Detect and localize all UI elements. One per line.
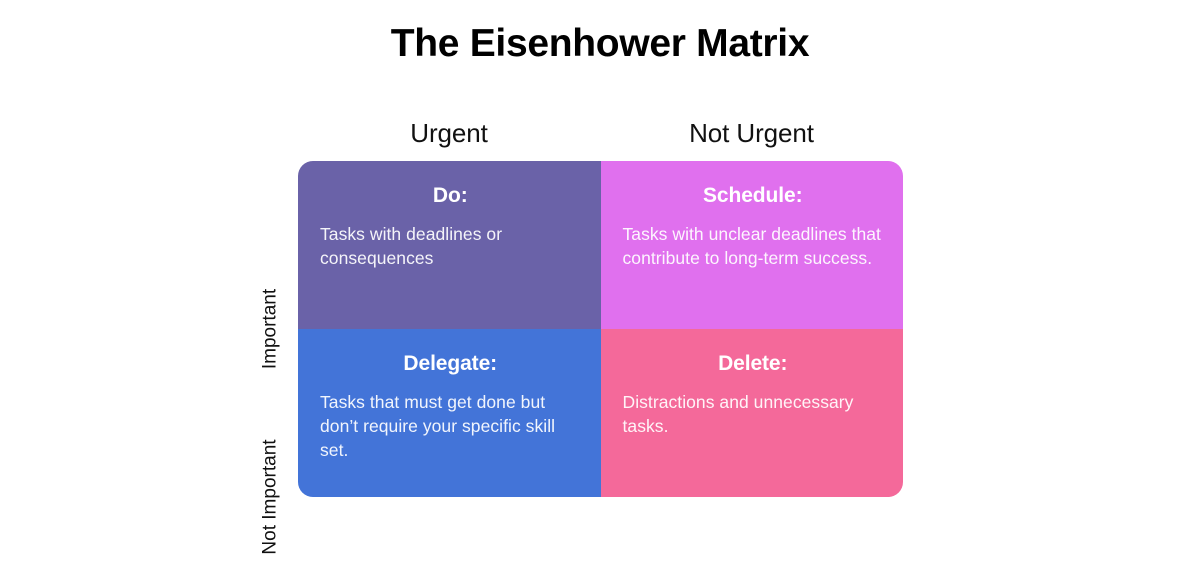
quadrant-schedule-heading: Schedule: — [623, 183, 884, 208]
quadrant-schedule[interactable]: Schedule: Tasks with unclear deadlines t… — [601, 161, 904, 329]
column-header-not-urgent: Not Urgent — [600, 118, 903, 149]
row-header-important: Important — [261, 244, 280, 414]
column-header-urgent: Urgent — [298, 118, 600, 149]
quadrant-schedule-body: Tasks with unclear deadlines that contri… — [623, 222, 884, 270]
eisenhower-matrix: Do: Tasks with deadlines or consequences… — [298, 161, 903, 497]
quadrant-delegate[interactable]: Delegate: Tasks that must get done but d… — [298, 329, 601, 497]
page-title: The Eisenhower Matrix — [0, 22, 1200, 67]
quadrant-do[interactable]: Do: Tasks with deadlines or consequences — [298, 161, 601, 329]
quadrant-do-body: Tasks with deadlines or consequences — [320, 222, 581, 270]
quadrant-delegate-heading: Delegate: — [320, 351, 581, 376]
row-header-not-important: Not Important — [261, 412, 280, 582]
quadrant-delete[interactable]: Delete: Distractions and unnecessary tas… — [601, 329, 904, 497]
matrix-grid: Do: Tasks with deadlines or consequences… — [298, 161, 903, 497]
quadrant-delete-body: Distractions and unnecessary tasks. — [623, 390, 884, 438]
quadrant-do-heading: Do: — [320, 183, 581, 208]
quadrant-delete-heading: Delete: — [623, 351, 884, 376]
quadrant-delegate-body: Tasks that must get done but don’t requi… — [320, 390, 581, 462]
